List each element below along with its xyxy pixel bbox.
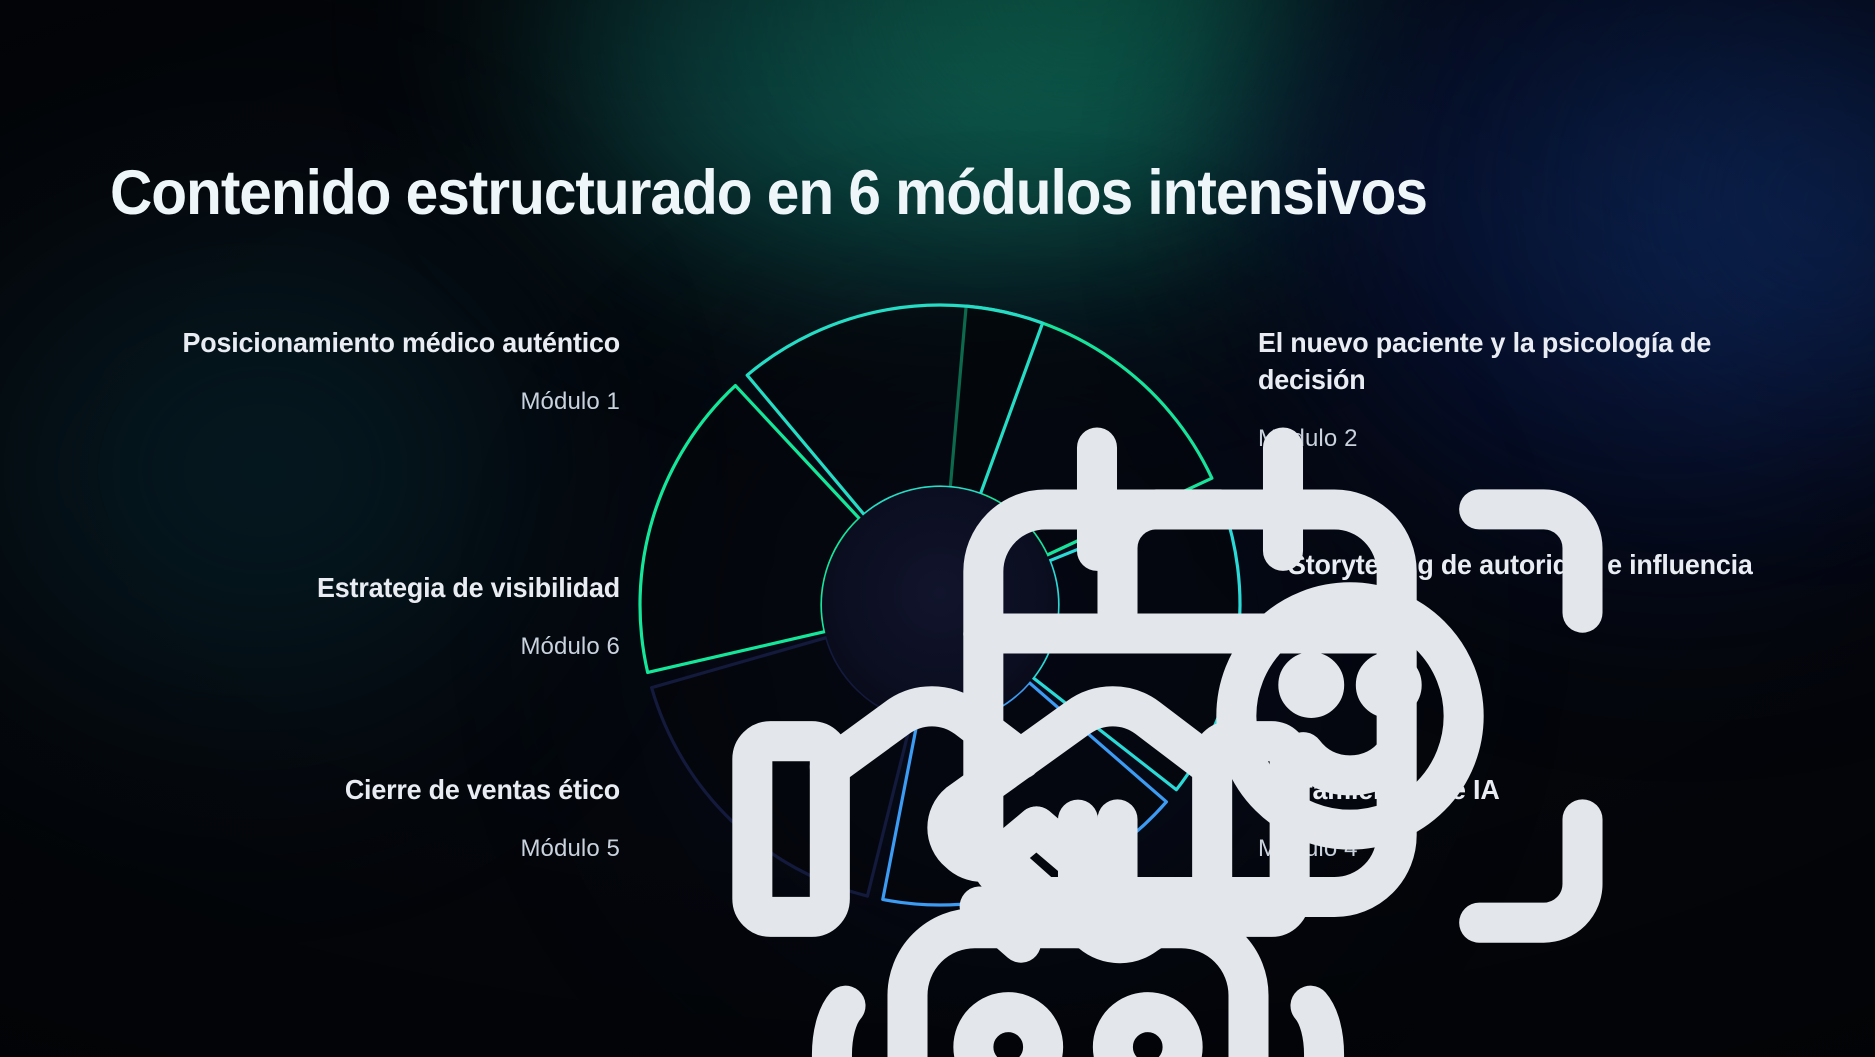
slide-canvas: Contenido estructurado en 6 módulos inte… <box>0 0 1875 1057</box>
module-label-1-title: Posicionamiento médico auténtico <box>159 325 620 362</box>
module-label-5-number: Módulo 5 <box>140 833 620 864</box>
module-label-5-title: Cierre de ventas ético <box>159 772 620 809</box>
handshake-icon <box>711 519 757 565</box>
calendar-icon <box>880 370 926 416</box>
module-label-6-number: Módulo 6 <box>140 631 620 662</box>
module-label-6-title: Estrategia de visibilidad <box>159 570 620 607</box>
robot-icon <box>768 737 814 783</box>
module-label-1-number: Módulo 1 <box>140 386 620 417</box>
module-donut-diagram <box>630 295 1250 915</box>
module-label-6[interactable]: Estrategia de visibilidad Módulo 6 <box>140 570 620 662</box>
module-label-5[interactable]: Cierre de ventas ético Módulo 5 <box>140 772 620 864</box>
page-title: Contenido estructurado en 6 módulos inte… <box>110 160 1691 226</box>
module-label-1[interactable]: Posicionamiento médico auténtico Módulo … <box>140 325 620 417</box>
